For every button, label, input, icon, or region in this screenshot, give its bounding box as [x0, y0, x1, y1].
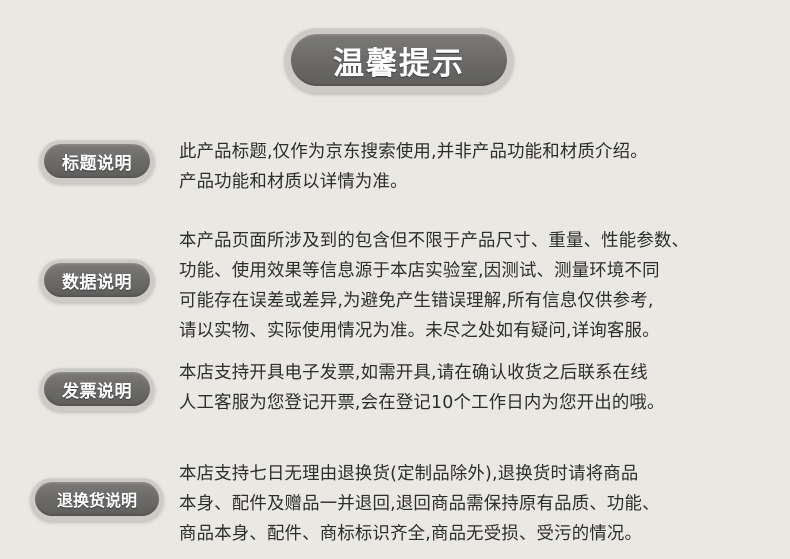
section-label-data-description: 数据说明 — [39, 258, 155, 302]
section-label-invoice-description: 发票说明 — [39, 367, 155, 411]
section-label-data-description-inner: 数据说明 — [44, 263, 150, 297]
notice-page: 温馨提示 标题说明 此产品标题,仅作为京东搜索使用,并非产品功能和材质介绍。 产… — [0, 0, 790, 559]
page-title-pill: 温馨提示 — [284, 27, 514, 93]
section-label-text: 标题说明 — [62, 149, 132, 174]
section-body-data-description: 本产品页面所涉及到的包含但不限于产品尺寸、重量、性能参数、 功能、使用效果等信息… — [179, 226, 761, 346]
section-label-return-description-inner: 退换货说明 — [35, 482, 159, 516]
section-label-text: 发票说明 — [62, 377, 132, 402]
section-body-title-description: 此产品标题,仅作为京东搜索使用,并非产品功能和材质介绍。 产品功能和材质以详情为… — [179, 137, 761, 197]
section-body-invoice-description: 本店支持开具电子发票,如需开具,请在确认收货之后联系在线 人工客服为您登记开票,… — [179, 358, 761, 418]
section-label-invoice-description-inner: 发票说明 — [44, 372, 150, 406]
section-label-title-description: 标题说明 — [39, 139, 155, 183]
page-title: 温馨提示 — [333, 38, 465, 83]
section-label-title-description-inner: 标题说明 — [44, 144, 150, 178]
page-title-pill-inner: 温馨提示 — [291, 34, 507, 86]
section-label-text: 退换货说明 — [57, 487, 137, 511]
section-label-text: 数据说明 — [62, 268, 132, 293]
section-label-return-description: 退换货说明 — [30, 477, 164, 521]
section-body-return-description: 本店支持七日无理由退换货(定制品除外),退换货时请将商品 本身、配件及赠品一并退… — [179, 459, 761, 549]
